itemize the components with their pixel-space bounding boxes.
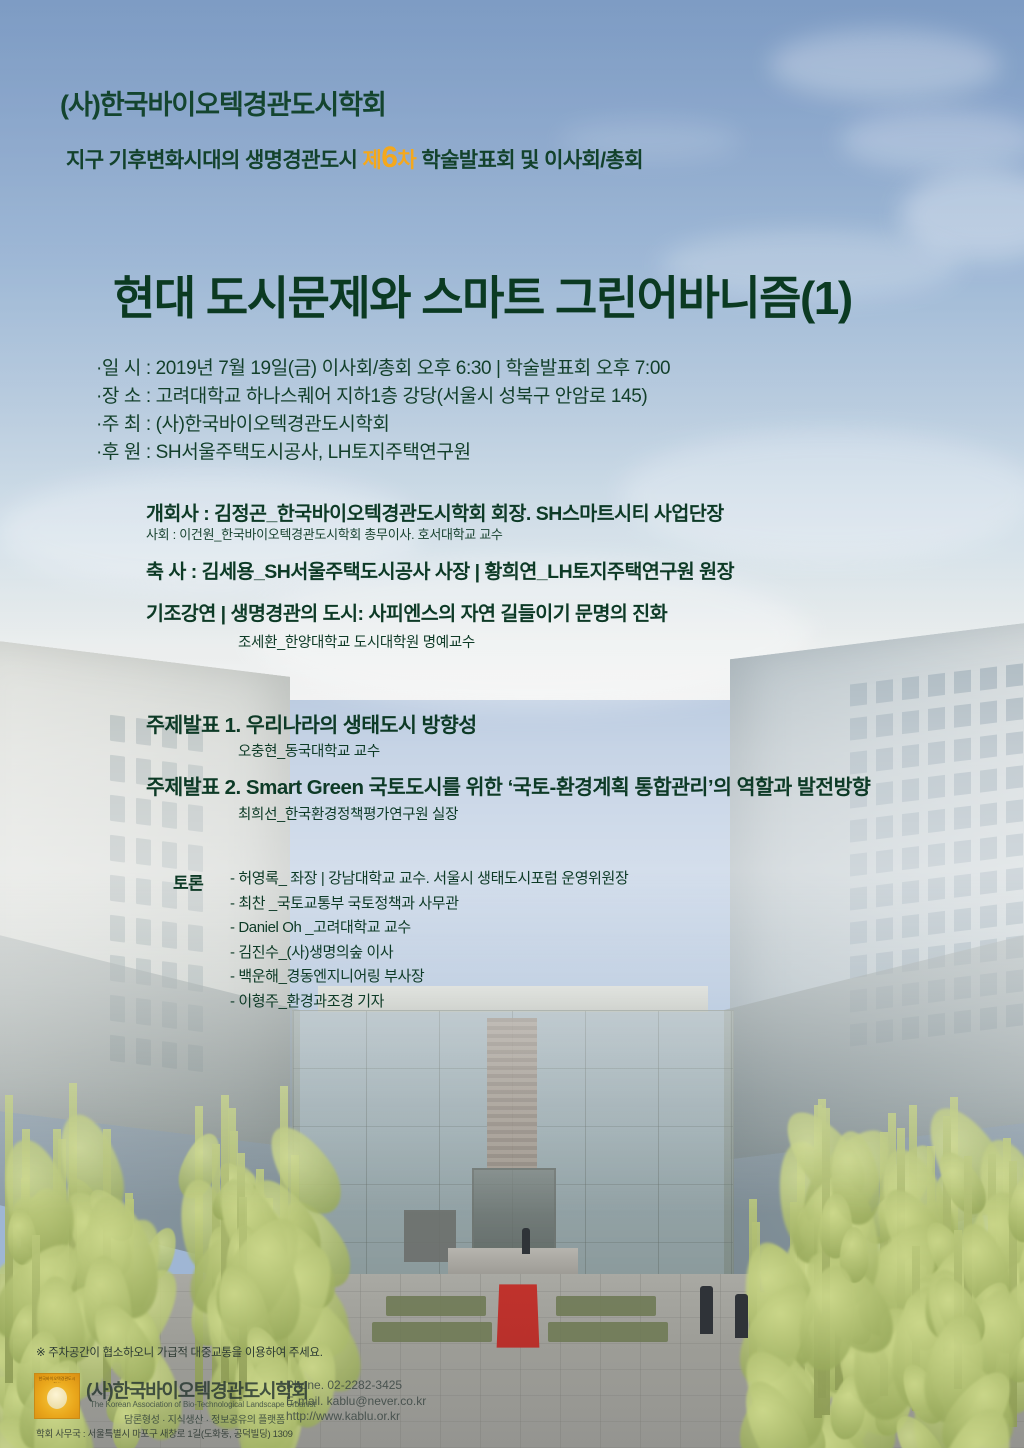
emblem-figure <box>47 1387 67 1409</box>
opening-address: 개회사 : 김정곤_한국바이오텍경관도시학회 회장. SH스마트시티 사업단장 <box>146 497 724 526</box>
keynote-title: 기조강연 | 생명경관의 도시: 사피엔스의 자연 길들이기 문명의 진화 <box>146 597 667 626</box>
detail-sponsor: ·후 원 : SH서울주택도시공사, LH토지주택연구원 <box>96 439 670 467</box>
contact-website: http://www.kablu.or.kr <box>286 1409 426 1425</box>
moderator-line: 사회 : 이건원_한국바이오텍경관도시학회 총무이사. 호서대학교 교수 <box>146 524 503 543</box>
panel-member-list: - 허영록_ 좌장 | 강남대학교 교수. 서울시 생태도시포럼 운영위원장 -… <box>230 867 628 1014</box>
panel-member: - 허영록_ 좌장 | 강남대학교 교수. 서울시 생태도시포럼 운영위원장 <box>230 867 628 892</box>
panel-member: - 백운해_경동엔지니어링 부사장 <box>230 965 628 990</box>
congratulatory-address: 축 사 : 김세용_SH서울주택도시공사 사장 | 황희연_LH토지주택연구원 … <box>146 555 734 584</box>
event-details: ·일 시 : 2019년 7월 19일(금) 이사회/총회 오후 6:30 | … <box>96 355 670 467</box>
page-title: 현대 도시문제와 스마트 그린어바니즘(1) <box>113 262 852 328</box>
conference-poster: (사)한국바이오텍경관도시학회 지구 기후변화시대의 생명경관도시 제6차 학술… <box>0 0 1024 1448</box>
ordinal-badge: 제6차 <box>363 149 422 172</box>
footer-society-name: (사)한국바이오텍경관도시학회 <box>86 1376 308 1403</box>
event-subtitle: 지구 기후변화시대의 생명경관도시 제6차 학술발표회 및 이사회/총회 <box>66 141 643 175</box>
emblem-caption: 한국바이오텍경관도시학회 <box>38 1376 76 1383</box>
panel-discussion-label: 토론 <box>173 869 203 894</box>
panel-member: - Daniel Oh _고려대학교 교수 <box>230 916 628 941</box>
ordinal-suffix: 차 <box>397 149 416 172</box>
detail-host: ·주 최 : (사)한국바이오텍경관도시학회 <box>96 411 670 439</box>
contact-phone: Phone. 02-2282-3425 <box>286 1378 426 1394</box>
session-1-title: 주제발표 1. 우리나라의 생태도시 방향성 <box>146 708 477 738</box>
panel-member: - 최찬 _국토교통부 국토정책과 사무관 <box>230 892 628 917</box>
keynote-speaker: 조세환_한양대학교 도시대학원 명예교수 <box>238 631 475 652</box>
footer-society-name-english: The Korean Association of Bio-Technologi… <box>90 1400 316 1409</box>
panel-member: - 김진수_(사)생명의숲 이사 <box>230 941 628 966</box>
session-2-title: 주제발표 2. Smart Green 국토도시를 위한 ‘국토-환경계획 통합… <box>146 770 870 800</box>
ordinal-prefix: 제 <box>363 149 382 172</box>
detail-date: ·일 시 : 2019년 7월 19일(금) 이사회/총회 오후 6:30 | … <box>96 355 670 383</box>
session-1-speaker: 오충현_동국대학교 교수 <box>238 740 380 761</box>
footer-contact: Phone. 02-2282-3425 E-mail. kablu@never.… <box>286 1378 426 1425</box>
subtitle-prefix: 지구 기후변화시대의 생명경관도시 <box>66 149 357 172</box>
contact-email: E-mail. kablu@never.co.kr <box>286 1394 426 1410</box>
organization-name: (사)한국바이오텍경관도시학회 <box>60 83 386 122</box>
poster-content: (사)한국바이오텍경관도시학회 지구 기후변화시대의 생명경관도시 제6차 학술… <box>0 0 1024 1448</box>
footer-block: 한국바이오텍경관도시학회 (사)한국바이오텍경관도시학회 The Korean … <box>34 1370 994 1432</box>
subtitle-suffix: 학술발표회 및 이사회/총회 <box>421 149 643 172</box>
session-2-speaker: 최희선_한국환경정책평가연구원 실장 <box>238 803 458 824</box>
footer-address: 학회 사무국 : 서울특별시 마포구 새창로 1길(도화동, 공덕빌딩) 130… <box>36 1426 293 1440</box>
panel-member: - 이형주_환경과조경 기자 <box>230 990 628 1015</box>
society-emblem-icon: 한국바이오텍경관도시학회 <box>34 1373 80 1419</box>
detail-place: ·장 소 : 고려대학교 하나스퀘어 지하1층 강당(서울시 성북구 안암로 1… <box>96 383 670 411</box>
footer-tagline: 담론형성 · 지식생산 · 정보공유의 플랫폼 <box>124 1411 285 1426</box>
ordinal-number: 6 <box>381 141 397 174</box>
parking-notice: ※ 주차공간이 협소하오니 가급적 대중교통을 이용하여 주세요. <box>36 1344 323 1360</box>
